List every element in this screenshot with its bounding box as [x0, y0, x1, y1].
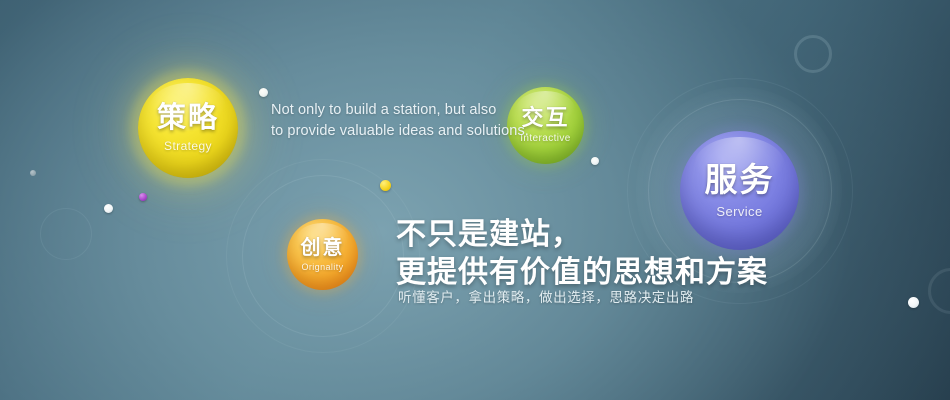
white-dot-right-icon: [908, 297, 919, 308]
small-ring-top-right-icon: [794, 35, 832, 73]
headline: 不只是建站， 更提供有价值的思想和方案: [396, 216, 768, 292]
sphere-strategy-cn-label: 策略: [157, 104, 219, 133]
sphere-originality[interactable]: 创意 Orignality: [287, 219, 358, 290]
sphere-service-cn-label: 服务: [705, 163, 775, 196]
subtitle: 听懂客户，拿出策略，做出选择，思路决定出路: [398, 286, 694, 306]
sphere-originality-en-label: Orignality: [301, 263, 343, 272]
white-dot-upper-left-icon: [259, 88, 268, 97]
small-ring-bottom-right-icon: [928, 268, 950, 314]
hero-banner: 策略 Strategy 交互 Interactive 创意 Orignality…: [0, 0, 950, 400]
white-dot-center-icon: [591, 157, 599, 165]
english-tagline-line2: to provide valuable ideas and solutions.: [271, 121, 501, 142]
english-tagline-line1: Not only to build a station, but also: [271, 100, 501, 121]
purple-dot-left-icon: [139, 193, 147, 201]
english-tagline: Not only to build a station, but also to…: [271, 100, 501, 142]
white-dot-left-icon: [104, 204, 113, 213]
grey-dot-far-left-icon: [30, 170, 36, 176]
small-ring-left-icon: [40, 208, 92, 260]
sphere-originality-cn-label: 创意: [301, 238, 345, 258]
sphere-strategy[interactable]: 策略 Strategy: [138, 78, 238, 178]
sphere-strategy-en-label: Strategy: [164, 140, 212, 152]
headline-line1: 不只是建站，: [396, 216, 768, 254]
yellow-dot-center-icon: [380, 180, 391, 191]
